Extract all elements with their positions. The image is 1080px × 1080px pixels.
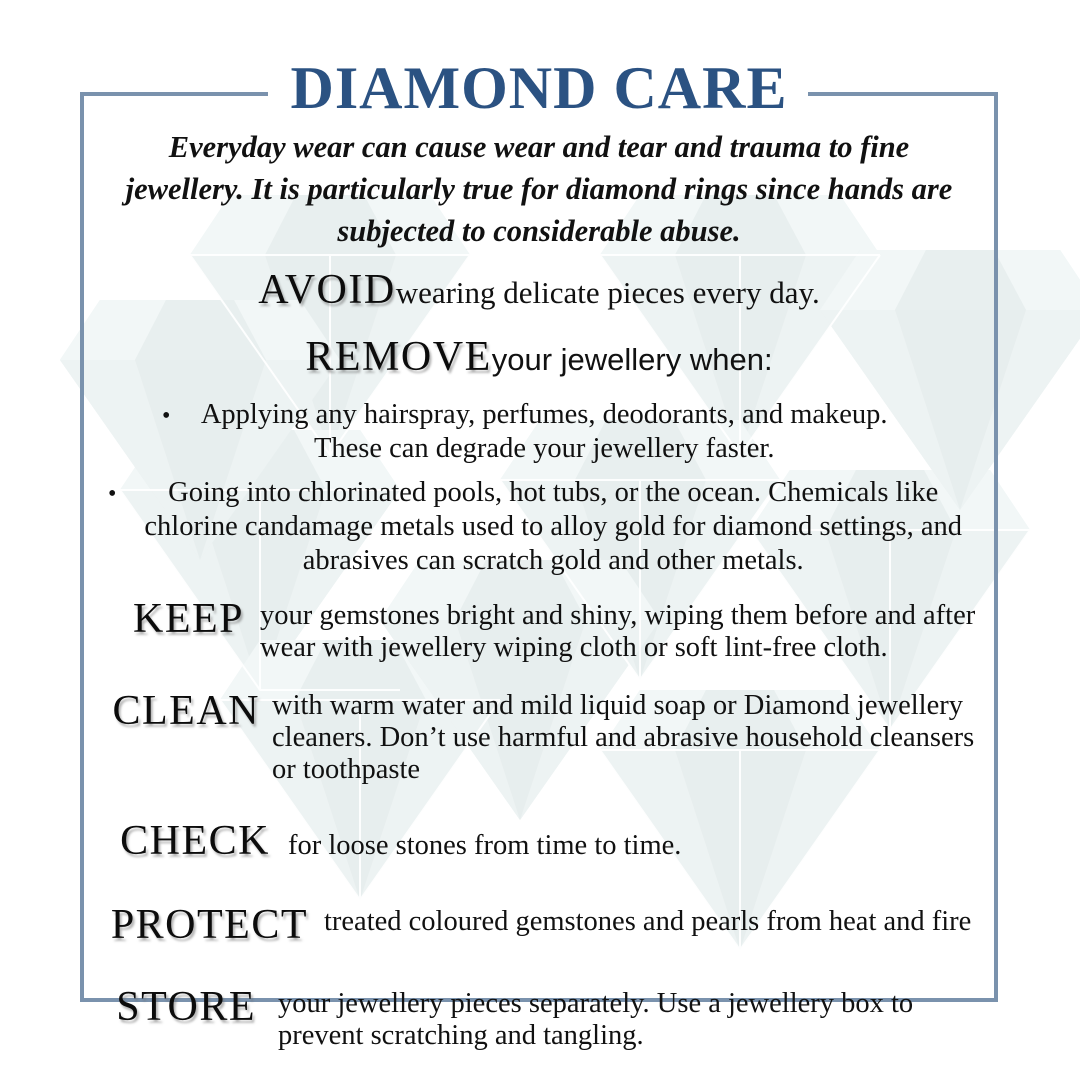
care-step-protect: PROTECT treated coloured gemstones and p… [84,902,994,946]
care-step-clean: CLEAN with warm water and mild liquid so… [84,688,994,786]
remove-keyword: REMOVE [305,334,491,380]
keep-description: your gemstones bright and shiny, wiping … [244,596,994,664]
protect-description: treated coloured gemstones and pearls fr… [308,902,994,938]
remove-bullet-list: • Applying any hairspray, perfumes, deod… [84,398,994,578]
avoid-keyword: AVOID [258,267,395,313]
list-item-text: Going into chlorinated pools, hot tubs, … [130,476,994,578]
store-description: your jewellery pieces separately. Use a … [256,984,994,1052]
clean-keyword: CLEAN [84,688,260,732]
clean-description: with warm water and mild liquid soap or … [260,688,994,786]
remove-row: REMOVEyour jewellery when: [84,335,994,388]
list-item-text: Applying any hairspray, perfumes, deodor… [184,398,994,466]
avoid-row: AVOIDwearing delicate pieces every day. [84,268,994,321]
list-item: • Applying any hairspray, perfumes, deod… [84,398,994,466]
care-step-check: CHECK for loose stones from time to time… [84,818,994,862]
list-item: • Going into chlorinated pools, hot tubs… [84,476,994,578]
bullet-icon: • [162,398,170,433]
care-step-keep: KEEP your gemstones bright and shiny, wi… [84,596,994,664]
avoid-description: wearing delicate pieces every day. [396,275,820,310]
keep-keyword: KEEP [84,596,244,640]
check-keyword: CHECK [84,818,270,862]
protect-keyword: PROTECT [84,902,308,946]
bullet-icon: • [108,476,116,511]
remove-description: your jewellery when: [492,342,773,377]
store-keyword: STORE [84,984,256,1028]
page-title: DIAMOND CARE [84,56,994,120]
frame-right-edge [994,92,998,1002]
intro-paragraph: Everyday wear can cause wear and tear an… [108,126,970,252]
poster-content: DIAMOND CARE Everyday wear can cause wea… [84,56,994,1056]
care-step-store: STORE your jewellery pieces separately. … [84,984,994,1052]
diamond-care-poster: DIAMOND CARE Everyday wear can cause wea… [0,0,1080,1080]
check-description: for loose stones from time to time. [270,818,994,862]
